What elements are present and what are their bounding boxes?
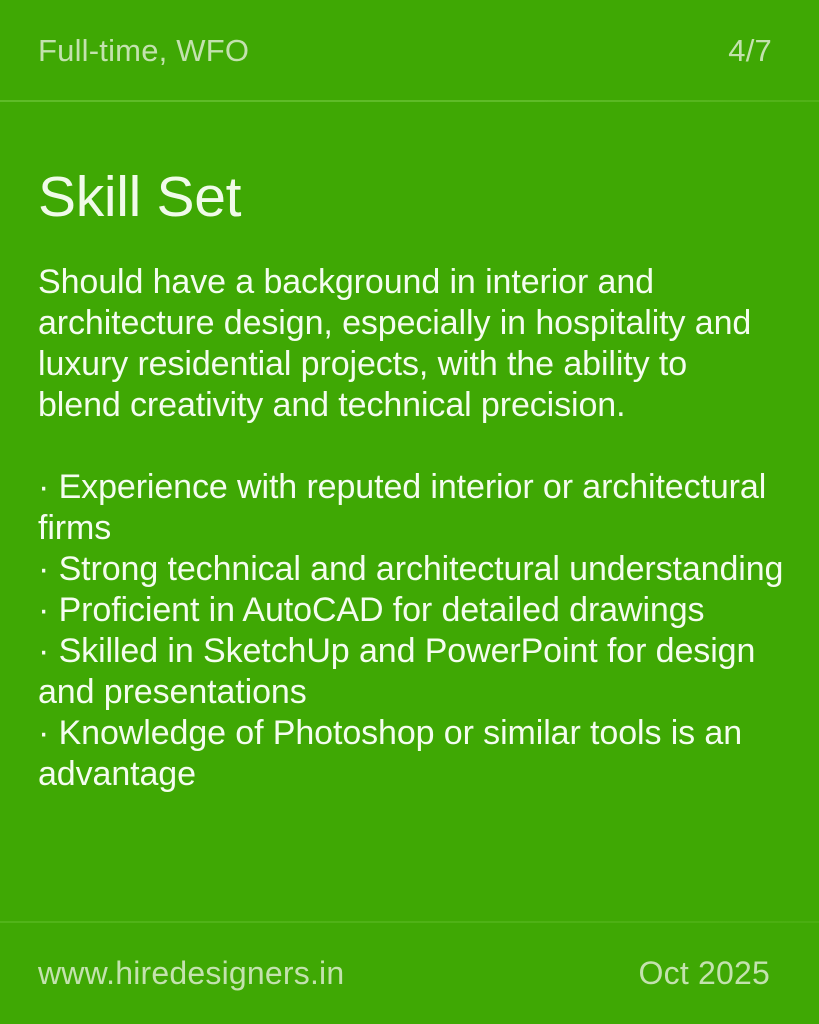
header-divider	[0, 100, 819, 102]
list-item-label: Strong technical and architectural under…	[59, 550, 784, 588]
bullet-dot-icon: ·	[38, 550, 49, 588]
employment-type-label: Full-time, WFO	[38, 35, 249, 66]
website-link[interactable]: www.hiredesigners.in	[38, 957, 344, 989]
bullet-dot-icon: ·	[38, 591, 49, 629]
list-item: · Proficient in AutoCAD for detailed dra…	[38, 590, 798, 631]
list-item: · Experience with reputed interior or ar…	[38, 467, 798, 549]
page-indicator: 4/7	[728, 35, 772, 66]
list-item: · Skilled in SketchUp and PowerPoint for…	[38, 631, 798, 713]
list-item: · Strong technical and architectural und…	[38, 549, 798, 590]
slide-header: Full-time, WFO 4/7	[0, 0, 819, 101]
list-item-label: Experience with reputed interior or arch…	[38, 468, 766, 547]
list-item-label: Knowledge of Photoshop or similar tools …	[38, 714, 742, 793]
slide-footer: www.hiredesigners.in Oct 2025	[0, 921, 819, 1024]
bullet-dot-icon: ·	[38, 468, 49, 506]
slide-content: Skill Set Should have a background in in…	[38, 168, 798, 795]
list-item: · Knowledge of Photoshop or similar tool…	[38, 713, 798, 795]
bullet-dot-icon: ·	[38, 714, 49, 752]
list-item-label: Proficient in AutoCAD for detailed drawi…	[59, 591, 705, 629]
skill-bullet-list: · Experience with reputed interior or ar…	[38, 467, 798, 795]
intro-paragraph: Should have a background in interior and…	[38, 262, 778, 426]
list-item-label: Skilled in SketchUp and PowerPoint for d…	[38, 632, 755, 711]
bullet-dot-icon: ·	[38, 632, 49, 670]
slide-card: Full-time, WFO 4/7 Skill Set Should have…	[0, 0, 819, 1024]
page-title: Skill Set	[38, 168, 798, 228]
date-label: Oct 2025	[639, 957, 770, 989]
